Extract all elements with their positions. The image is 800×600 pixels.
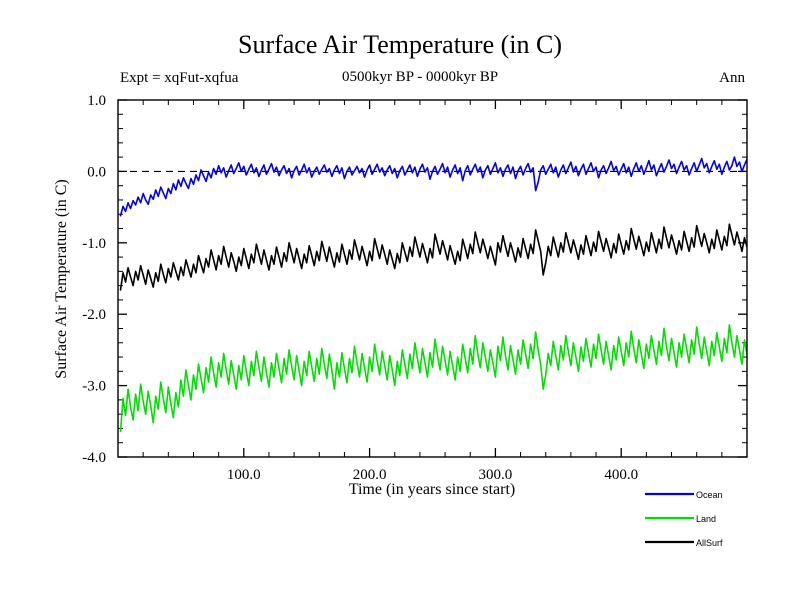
y-tick-label: -2.0 — [82, 307, 106, 323]
y-tick-label: -3.0 — [82, 379, 106, 395]
period-annotation: Ann — [719, 70, 745, 86]
surface-air-temperature-plot: Surface Air Temperature (in C) 0500kyr B… — [0, 0, 800, 600]
x-tick-label: 400.0 — [604, 467, 638, 483]
x-axis-title: Time (in years since start) — [349, 481, 515, 498]
legend-label-ocean[interactable]: Ocean — [696, 490, 723, 500]
x-tick-label: 100.0 — [227, 467, 261, 483]
y-axis-title: Surface Air Temperature (in C) — [53, 179, 70, 378]
y-tick-label: 1.0 — [87, 93, 106, 109]
chart-page: Surface Air Temperature (in C) 0500kyr B… — [0, 0, 800, 600]
legend-label-land[interactable]: Land — [696, 514, 716, 524]
chart-title: Surface Air Temperature (in C) — [238, 30, 562, 59]
experiment-annotation: Expt = xqFut-xqfua — [120, 70, 239, 86]
y-tick-label: 0.0 — [87, 164, 106, 180]
y-tick-label: -4.0 — [82, 450, 106, 466]
chart-subtitle: 0500kyr BP - 0000kyr BP — [342, 69, 498, 85]
y-tick-label: -1.0 — [82, 236, 106, 252]
legend-label-allsurf[interactable]: AllSurf — [696, 538, 723, 548]
